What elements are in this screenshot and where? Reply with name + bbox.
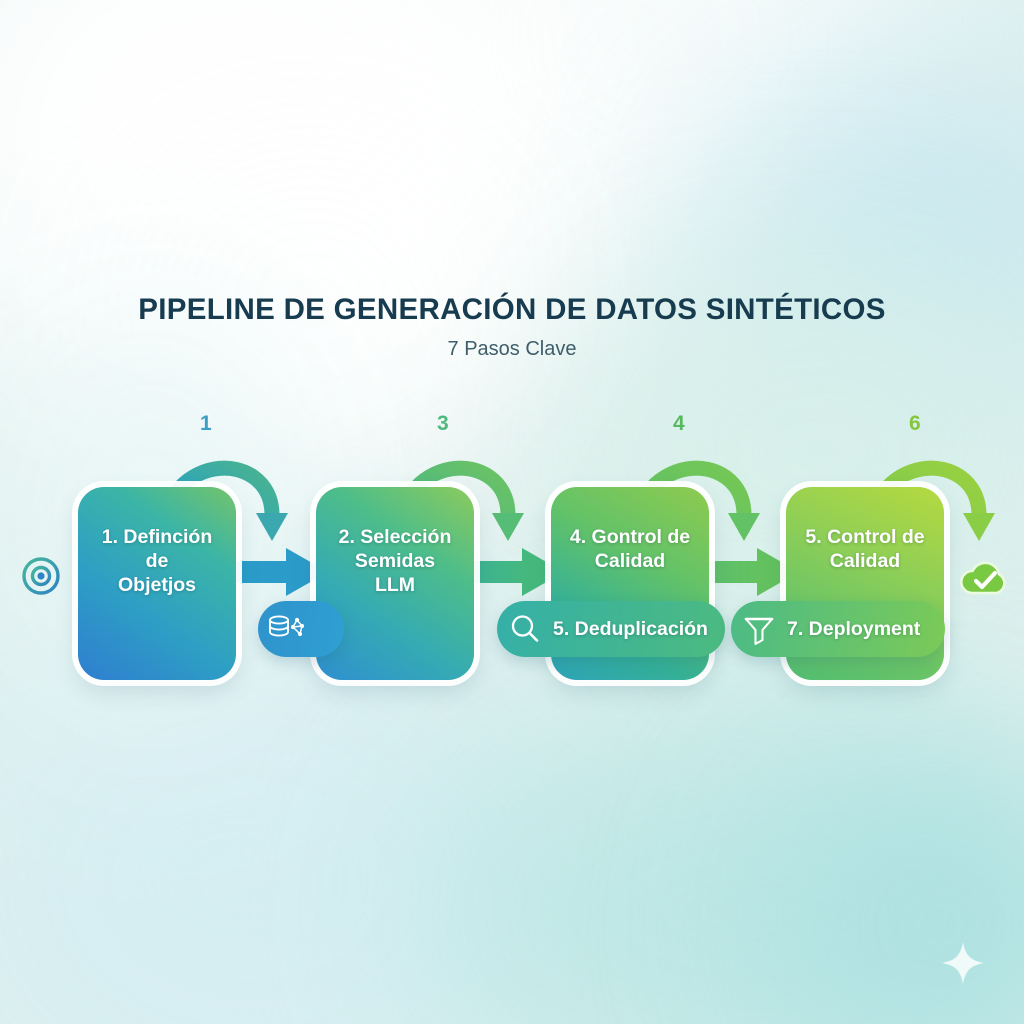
stage-3-line-2: Calidad bbox=[595, 550, 665, 572]
connector-arrow-2 bbox=[468, 548, 564, 596]
pill-deployment[interactable]: 7. Deployment bbox=[731, 601, 945, 657]
connector-arrow-3 bbox=[703, 548, 799, 596]
database-network-icon bbox=[258, 601, 314, 657]
pipeline-stage-3-label: 4. Gontrol de Calidad bbox=[562, 525, 698, 573]
pipeline-stage-4-label: 5. Control de Calidad bbox=[797, 525, 933, 573]
arc-step-number-3: 3 bbox=[437, 412, 449, 436]
stage-2-line-1: 2. Selección bbox=[339, 526, 452, 548]
cloud-check-icon bbox=[957, 552, 1015, 603]
page-subtitle: 7 Pasos Clave bbox=[0, 338, 1024, 361]
pill-deployment-label: 7. Deployment bbox=[787, 618, 938, 641]
stage-2-line-2: Semidas bbox=[355, 550, 435, 572]
pipeline-stage-1-label: 1. Definción de Objetjos bbox=[89, 525, 225, 598]
page-title: PIPELINE DE GENERACIÓN DE DATOS SINTÉTIC… bbox=[0, 293, 1024, 327]
diagram-canvas: PIPELINE DE GENERACIÓN DE DATOS SINTÉTIC… bbox=[0, 0, 1024, 1024]
arc-step-number-4: 4 bbox=[673, 412, 685, 436]
stage-4-line-1: 5. Control de bbox=[805, 526, 924, 548]
stage-3-line-1: 4. Gontrol de bbox=[570, 526, 690, 548]
connector-arrow-1 bbox=[232, 548, 328, 596]
pill-database[interactable] bbox=[258, 601, 344, 657]
pill-deduplication-label: 5. Deduplicación bbox=[553, 618, 726, 641]
arc-step-number-1: 1 bbox=[200, 412, 212, 436]
pill-deduplication[interactable]: 5. Deduplicación bbox=[497, 601, 725, 657]
stage-1-line-1: 1. Definción de bbox=[102, 526, 213, 572]
arc-step-number-6: 6 bbox=[909, 412, 921, 436]
stage-2-line-3: LLM bbox=[375, 574, 415, 596]
pipeline-stage-2-label: 2. Selección Semidas LLM bbox=[327, 525, 463, 598]
sparkle-star-icon bbox=[940, 940, 986, 986]
stage-4-line-2: Calidad bbox=[830, 550, 900, 572]
search-icon bbox=[497, 601, 553, 657]
pipeline-stage-1[interactable]: 1. Definción de Objetjos bbox=[78, 487, 236, 680]
target-crosshair-icon bbox=[10, 545, 72, 612]
pipeline-stage-2[interactable]: 2. Selección Semidas LLM bbox=[316, 487, 474, 680]
stage-1-line-2: Objetjos bbox=[118, 574, 196, 596]
funnel-filter-icon bbox=[731, 601, 787, 657]
